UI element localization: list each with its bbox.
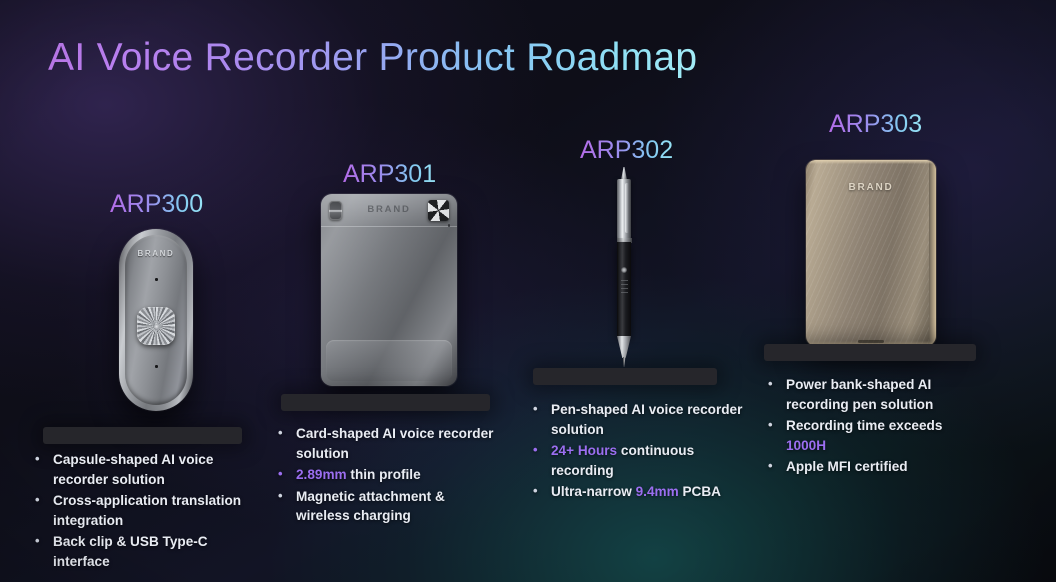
product-column-arp303: ARP303 BRAND Power bank-shaped AI record… bbox=[0, 0, 264, 582]
product-label-arp303: ARP303 bbox=[829, 110, 922, 139]
power-bank-top-edge bbox=[806, 160, 936, 164]
pen-clip bbox=[625, 183, 629, 233]
list-item: Power bank-shaped AI recording pen solut… bbox=[766, 375, 981, 414]
placeholder-bar-arp303 bbox=[764, 344, 976, 361]
card-burst-icon bbox=[428, 200, 449, 221]
feature-list-arp302: Pen-shaped AI voice recorder solution 24… bbox=[531, 400, 746, 504]
list-item: Recording time exceeds 1000H bbox=[766, 416, 981, 455]
highlighted-spec: 1000H bbox=[786, 438, 826, 453]
list-item: Pen-shaped AI voice recorder solution bbox=[531, 400, 746, 439]
card-bottom-band bbox=[326, 340, 452, 381]
list-item: 2.89mm thin profile bbox=[276, 465, 501, 485]
list-item: Apple MFI certified bbox=[766, 457, 981, 477]
device-image-card-recorder: BRAND bbox=[321, 194, 457, 386]
feature-list-arp301: Card-shaped AI voice recorder solution 2… bbox=[276, 424, 501, 528]
pen-logo-icon bbox=[621, 267, 627, 273]
list-item: Card-shaped AI voice recorder solution bbox=[276, 424, 501, 463]
list-item: Magnetic attachment & wireless charging bbox=[276, 487, 501, 526]
list-item: 24+ Hours continuous recording bbox=[531, 441, 746, 480]
placeholder-bar-arp301 bbox=[281, 394, 490, 411]
placeholder-bar-arp302 bbox=[533, 368, 717, 385]
card-indicator-dot bbox=[448, 224, 451, 227]
pen-brand-marking bbox=[621, 277, 628, 293]
list-item: Ultra-narrow 9.4mm PCBA bbox=[531, 482, 746, 502]
power-bank-brand-text: BRAND bbox=[806, 182, 936, 193]
pen-taper-cone bbox=[617, 336, 631, 358]
slide-canvas: AI Voice Recorder Product Roadmap ARP300… bbox=[0, 0, 1056, 582]
card-side-switch bbox=[329, 201, 342, 220]
product-label-arp301: ARP301 bbox=[343, 160, 436, 189]
device-image-power-bank-recorder: BRAND bbox=[806, 160, 936, 346]
power-bank-port bbox=[858, 340, 884, 343]
highlighted-spec: 24+ Hours bbox=[551, 443, 617, 458]
product-label-arp302: ARP302 bbox=[580, 136, 673, 165]
feature-list-arp303: Power bank-shaped AI recording pen solut… bbox=[766, 375, 981, 479]
pen-nib bbox=[623, 357, 626, 367]
highlighted-spec: 9.4mm bbox=[636, 484, 679, 499]
device-image-pen-recorder bbox=[607, 167, 641, 367]
highlighted-spec: 2.89mm bbox=[296, 467, 347, 482]
